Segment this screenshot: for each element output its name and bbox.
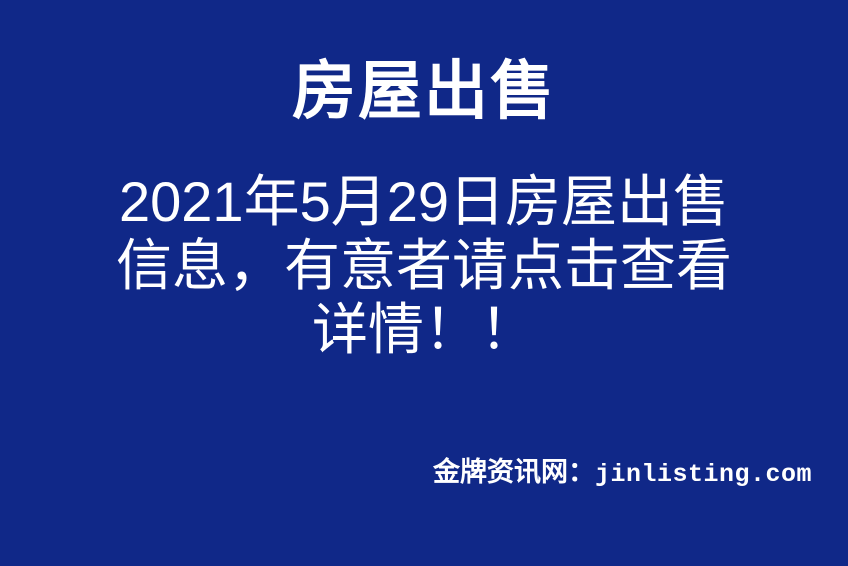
page-title: 房屋出售 [292, 56, 556, 128]
poster-body-block: 2021年5月29日房屋出售 信息，有意者请点击查看 详情！！ [0, 170, 848, 362]
body-line: 信息，有意者请点击查看 [0, 234, 848, 298]
body-line: 2021年5月29日房屋出售 [0, 170, 848, 234]
poster-title-block: 房屋出售 [0, 56, 848, 128]
watermark-footer: 金牌资讯网：jinlisting.com [433, 450, 812, 489]
site-url-label: jinlisting.com [595, 460, 812, 489]
body-line: 详情！！ [0, 298, 848, 362]
site-name-label: 金牌资讯网： [433, 457, 595, 487]
poster-canvas: 房屋出售 2021年5月29日房屋出售 信息，有意者请点击查看 详情！！ 金牌资… [0, 0, 848, 566]
